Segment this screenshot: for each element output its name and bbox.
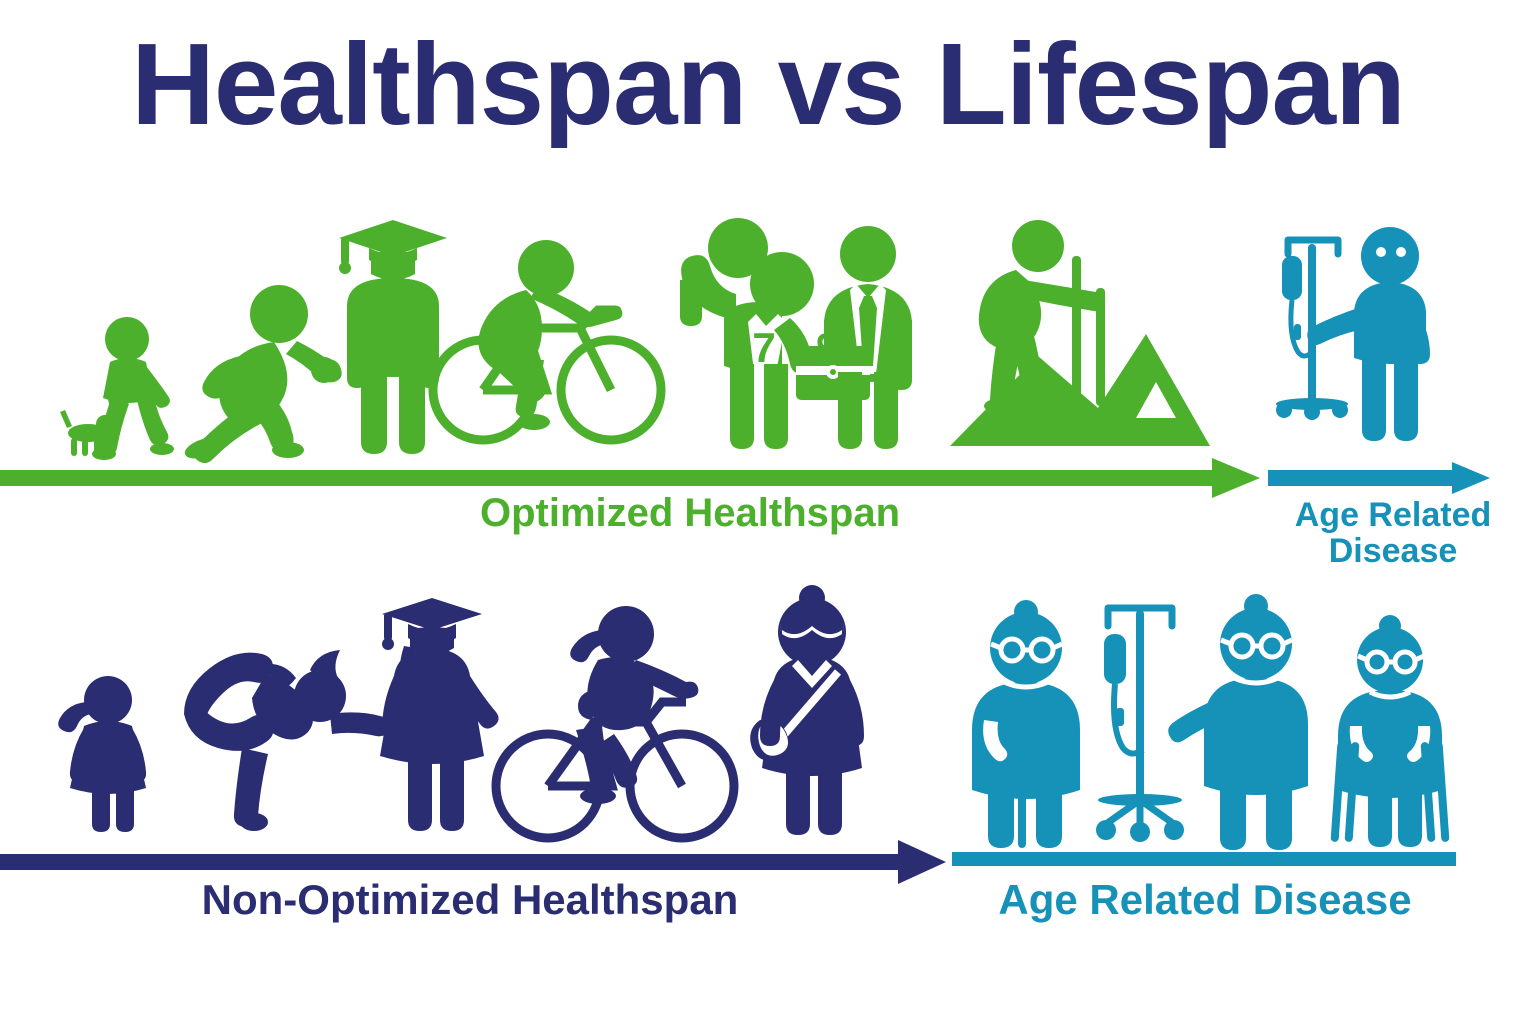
female-cyclist-icon — [490, 594, 730, 846]
page-title: Healthspan vs Lifespan — [0, 26, 1536, 142]
businessman-briefcase-icon — [790, 222, 930, 450]
shirt-number: 7 — [752, 324, 775, 371]
girl-icon — [50, 672, 160, 832]
patient-with-iv-stand-icon — [1278, 224, 1438, 450]
elderly-woman-with-walker-icon — [1320, 610, 1460, 852]
yoga-pose-icon — [170, 610, 370, 832]
age-related-disease-label-top: Age Related Disease — [1248, 498, 1536, 569]
runner-icon — [178, 282, 338, 457]
age-related-disease-arrow-top — [1268, 462, 1492, 494]
cyclist-icon — [438, 232, 658, 450]
elderly-woman-with-iv-icon — [1170, 588, 1320, 852]
hiker-mountain-icon — [920, 218, 1210, 450]
woman-with-shoulder-bag-icon — [746, 580, 876, 836]
age-related-disease-bar-bottom — [952, 852, 1458, 868]
optimized-healthspan-label: Optimized Healthspan — [390, 492, 990, 534]
female-graduate-icon — [360, 580, 500, 836]
non-optimized-healthspan-label: Non-Optimized Healthspan — [60, 878, 880, 922]
graduate-icon — [333, 212, 453, 458]
elderly-woman-with-cane-icon — [960, 596, 1090, 852]
age-related-disease-label-bottom: Age Related Disease — [950, 878, 1460, 922]
infographic-canvas: Healthspan vs Lifespan — [0, 0, 1536, 1024]
